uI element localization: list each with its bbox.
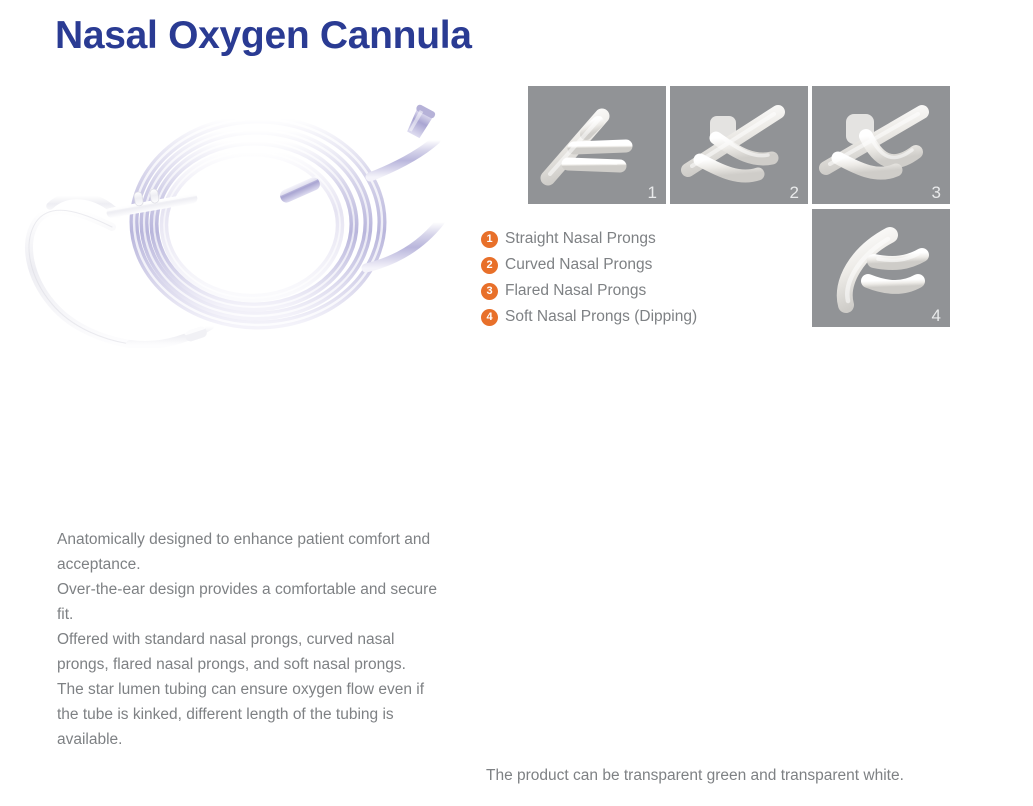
- legend-item-soft[interactable]: 4 Soft Nasal Prongs (Dipping): [481, 304, 811, 330]
- footer-caption: The product can be transparent green and…: [486, 767, 904, 785]
- description-line-2: Over-the-ear design provides a comfortab…: [57, 577, 447, 627]
- hero-product-photo: [0, 82, 455, 348]
- legend-item-label: Straight Nasal Prongs: [505, 230, 656, 248]
- description-line-3: Offered with standard nasal prongs, curv…: [57, 627, 447, 677]
- description-line-4: The star lumen tubing can ensure oxygen …: [57, 677, 447, 752]
- legend-item-flared[interactable]: 3 Flared Nasal Prongs: [481, 278, 811, 304]
- thumbnail-straight-prongs[interactable]: 1: [528, 86, 666, 204]
- product-description: Anatomically designed to enhance patient…: [57, 527, 447, 752]
- prong-legend-list: 1 Straight Nasal Prongs 2 Curved Nasal P…: [481, 226, 811, 330]
- legend-item-label: Soft Nasal Prongs (Dipping): [505, 308, 697, 326]
- thumbnail-number: 3: [932, 184, 941, 201]
- thumbnail-number: 4: [932, 307, 941, 324]
- thumbnail-number: 1: [648, 184, 657, 201]
- legend-item-label: Curved Nasal Prongs: [505, 256, 652, 274]
- thumbnail-soft-prongs[interactable]: 4: [812, 209, 950, 327]
- description-line-1: Anatomically designed to enhance patient…: [57, 527, 447, 577]
- legend-item-straight[interactable]: 1 Straight Nasal Prongs: [481, 226, 811, 252]
- page-title: Nasal Oxygen Cannula: [55, 14, 472, 58]
- legend-badge-icon: 3: [481, 283, 498, 300]
- legend-badge-icon: 1: [481, 231, 498, 248]
- legend-item-curved[interactable]: 2 Curved Nasal Prongs: [481, 252, 811, 278]
- legend-badge-icon: 2: [481, 257, 498, 274]
- legend-item-label: Flared Nasal Prongs: [505, 282, 646, 300]
- thumbnail-row-top: 1: [528, 86, 950, 204]
- thumbnail-flared-prongs[interactable]: 3: [812, 86, 950, 204]
- thumbnail-curved-prongs[interactable]: 2: [670, 86, 808, 204]
- legend-badge-icon: 4: [481, 309, 498, 326]
- thumbnail-number: 2: [790, 184, 799, 201]
